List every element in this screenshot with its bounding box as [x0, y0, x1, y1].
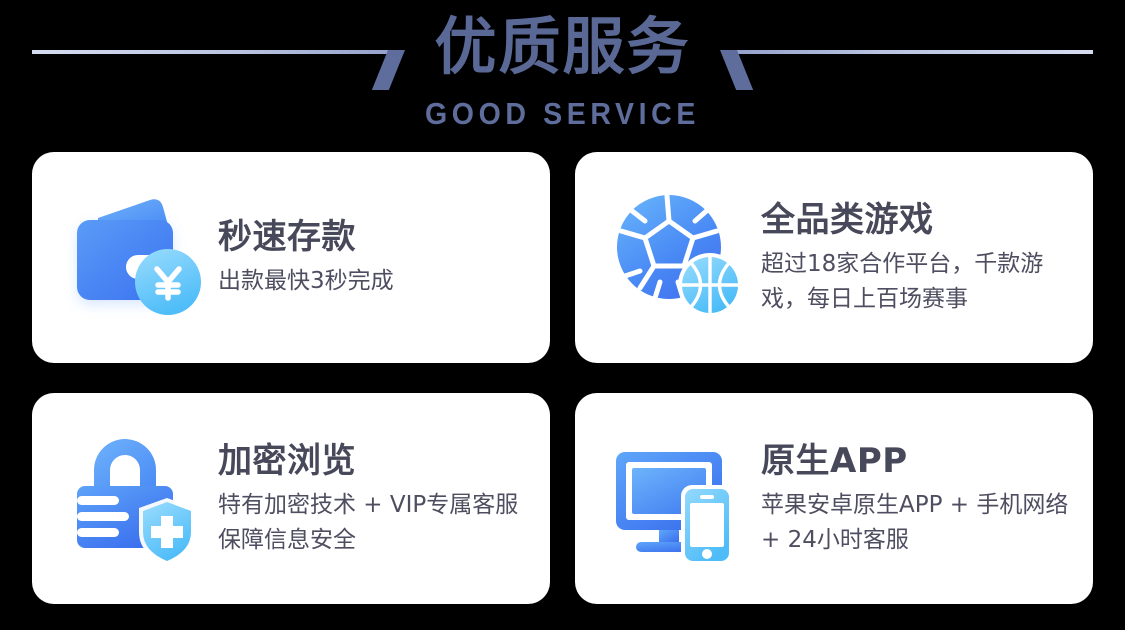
- monitor-phone-icon: [605, 424, 755, 574]
- page-subtitle: GOOD SERVICE: [45, 97, 1080, 131]
- card-description: 出款最快3秒完成: [218, 264, 534, 299]
- lock-shield-icon: [62, 424, 212, 574]
- card-description: 超过18家合作平台，千款游戏，每日上百场赛事: [761, 247, 1077, 317]
- card-title: 全品类游戏: [761, 199, 1077, 241]
- card-title: 加密浏览: [218, 440, 534, 482]
- feature-card-grid: 秒速存款 出款最快3秒完成: [32, 152, 1093, 604]
- card-title: 秒速存款: [218, 216, 534, 258]
- feature-card-native-app[interactable]: 原生APP 苹果安卓原生APP + 手机网络 + 24小时客服: [575, 393, 1093, 604]
- page-header: 优质服务 GOOD SERVICE: [0, 0, 1125, 145]
- feature-card-deposit[interactable]: 秒速存款 出款最快3秒完成: [32, 152, 550, 363]
- page-title: 优质服务: [0, 8, 1125, 86]
- card-text-block: 全品类游戏 超过18家合作平台，千款游戏，每日上百场赛事: [755, 199, 1077, 317]
- card-text-block: 原生APP 苹果安卓原生APP + 手机网络 + 24小时客服: [755, 440, 1077, 558]
- card-text-block: 加密浏览 特有加密技术 + VIP专属客服保障信息安全: [212, 440, 534, 558]
- soccer-basketball-icon: [605, 183, 755, 333]
- card-title: 原生APP: [761, 440, 1077, 482]
- card-description: 苹果安卓原生APP + 手机网络 + 24小时客服: [761, 488, 1077, 558]
- card-text-block: 秒速存款 出款最快3秒完成: [212, 216, 534, 299]
- wallet-yen-icon: [62, 183, 212, 333]
- card-description: 特有加密技术 + VIP专属客服保障信息安全: [218, 488, 534, 558]
- feature-card-games[interactable]: 全品类游戏 超过18家合作平台，千款游戏，每日上百场赛事: [575, 152, 1093, 363]
- feature-card-encryption[interactable]: 加密浏览 特有加密技术 + VIP专属客服保障信息安全: [32, 393, 550, 604]
